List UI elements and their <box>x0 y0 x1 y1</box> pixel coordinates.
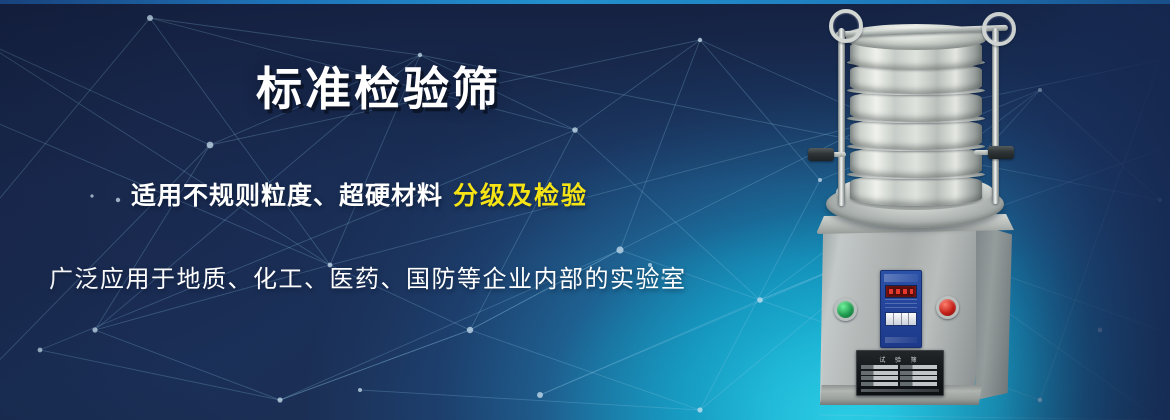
product-banner: 标准检验筛 适用不规则粒度、超硬材料分级及检验 广泛应用于地质、化工、医药、国防… <box>0 0 1170 420</box>
product-image-sieve-shaker: 试 验 筛 <box>806 2 1036 420</box>
nameplate-title: 试 验 筛 <box>857 355 943 364</box>
nameplate-manufacturer-line <box>861 389 939 392</box>
subheadline-highlight: 分级及检验 <box>453 182 588 210</box>
thumbwheel-digit-3[interactable] <box>902 313 910 325</box>
machine-nameplate: 试 验 筛 <box>856 350 944 396</box>
tagline: 广泛应用于地质、化工、医药、国防等企业内部的实验室 <box>49 259 687 294</box>
timer-display <box>885 285 917 298</box>
machine-base-side <box>976 224 1012 400</box>
clamp-knob-right <box>988 146 1014 159</box>
control-panel-footer-strip <box>885 337 917 343</box>
clamp-rod-left <box>838 28 845 206</box>
control-panel-label-strip <box>885 299 917 309</box>
run-indicator-lamp-red <box>936 296 959 319</box>
page-title: 标准检验筛 <box>256 53 501 119</box>
clamp-rod-right <box>992 28 999 204</box>
control-panel-brand-strip <box>884 274 918 282</box>
sieve-stack <box>850 24 982 200</box>
timer-thumbwheel-switches[interactable] <box>885 312 917 326</box>
subheadline-primary: 适用不规则粒度、超硬材料 <box>131 182 443 210</box>
power-indicator-lamp-green <box>834 298 857 321</box>
clamp-knob-stem-left <box>832 152 846 157</box>
subheadline: 适用不规则粒度、超硬材料分级及检验 <box>131 176 588 212</box>
copy-block: 标准检验筛 适用不规则粒度、超硬材料分级及检验 广泛应用于地质、化工、医药、国防… <box>0 0 820 420</box>
thumbwheel-digit-2[interactable] <box>894 313 902 325</box>
thumbwheel-digit-4[interactable] <box>909 313 916 325</box>
clamp-knob-left <box>808 148 834 161</box>
nameplate-spec-rows <box>861 365 939 386</box>
lifting-eye-bolt-left <box>829 9 863 43</box>
lifting-eye-bolt-right <box>982 12 1016 46</box>
control-panel <box>880 270 922 348</box>
thumbwheel-digit-1[interactable] <box>886 313 894 325</box>
